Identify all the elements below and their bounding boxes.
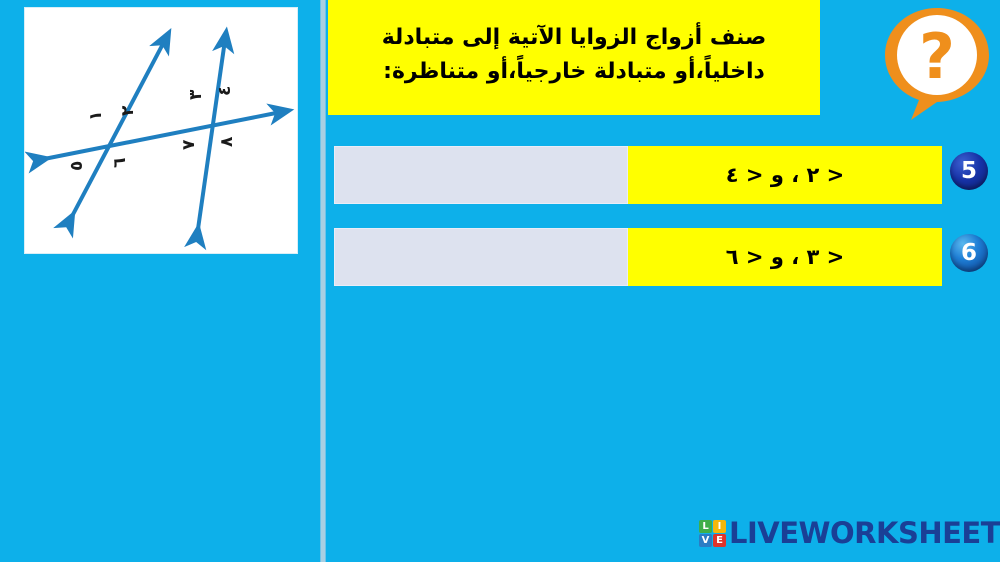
- question-label-text-2: < ٣ ، و < ٦: [726, 245, 844, 269]
- question-label-2: < ٣ ، و < ٦: [628, 228, 942, 286]
- question-prompt-box: صنف أزواج الزوايا الآتية إلى متبادلة داخ…: [328, 0, 820, 115]
- logo-cell-v: V: [699, 534, 712, 547]
- left-panel: ١ ٢ ٣ ٤ ٥ ٦ ٧ ٨: [0, 0, 322, 562]
- answer-row: < ٢ ، و < ٤: [334, 146, 942, 204]
- question-label-text-1: < ٢ ، و < ٤: [726, 163, 844, 187]
- panel-divider: [320, 0, 326, 562]
- logo-wordmark: LIVEWORKSHEETS: [729, 519, 1000, 548]
- question-line-1: صنف أزواج الزوايا الآتية إلى متبادلة: [382, 21, 767, 54]
- angle-label-8: ٨: [217, 136, 237, 147]
- angle-label-1: ١: [86, 111, 106, 121]
- logo-cell-e: E: [713, 534, 726, 547]
- help-glyph: ?: [919, 20, 955, 93]
- diagram-card: ١ ٢ ٣ ٤ ٥ ٦ ٧ ٨: [25, 8, 297, 253]
- angles-diagram: ١ ٢ ٣ ٤ ٥ ٦ ٧ ٨: [25, 8, 297, 253]
- question-text: صنف أزواج الزوايا الآتية إلى متبادلة داخ…: [382, 21, 767, 88]
- transversal-line: [39, 112, 281, 160]
- liveworksheets-logo[interactable]: L I V E LIVEWORKSHEETS: [699, 519, 1000, 548]
- angle-label-7: ٧: [179, 139, 199, 150]
- badge-number-6: 6: [961, 240, 977, 266]
- worksheet-page: ١ ٢ ٣ ٤ ٥ ٦ ٧ ٨ صنف أزواج الزوايا الآتية…: [0, 0, 1000, 562]
- parallel-line-left: [69, 40, 165, 222]
- logo-cell-i: I: [713, 520, 726, 533]
- answer-row: < ٣ ، و < ٦: [334, 228, 942, 286]
- angle-label-3: ٣: [186, 89, 206, 100]
- item-number-badge-6: 6: [950, 234, 988, 272]
- badge-number-5: 5: [961, 158, 977, 184]
- angle-label-6: ٦: [110, 158, 130, 168]
- answer-input-1[interactable]: [334, 146, 628, 204]
- question-mark-bubble-icon: ?: [881, 4, 993, 122]
- angle-label-4: ٤: [215, 86, 235, 96]
- item-number-badge-5: 5: [950, 152, 988, 190]
- angle-label-5: ٥: [67, 161, 87, 171]
- help-button[interactable]: ?: [881, 4, 993, 122]
- question-line-2: داخلياً،أو متبادلة خارجياً،أو متناظرة:: [382, 55, 767, 88]
- question-label-1: < ٢ ، و < ٤: [628, 146, 942, 204]
- answer-input-2[interactable]: [334, 228, 628, 286]
- logo-grid-icon: L I V E: [699, 520, 726, 547]
- logo-cell-l: L: [699, 520, 712, 533]
- angle-label-2: ٢: [118, 105, 138, 116]
